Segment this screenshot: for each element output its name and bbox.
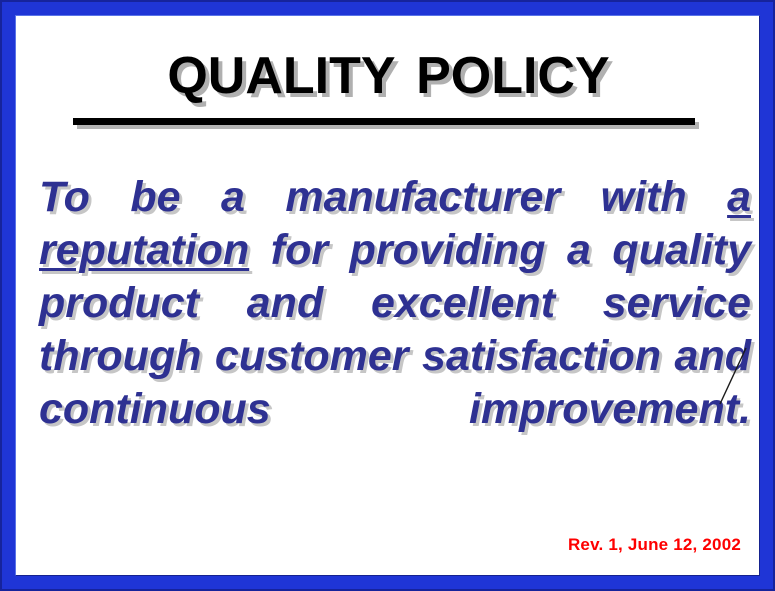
- policy-statement: To be a manufacturer with a reputation f…: [39, 171, 751, 491]
- page-title-text: Quality Policy: [167, 32, 609, 103]
- title-underline-bar: [73, 118, 695, 125]
- policy-underlined-article: a: [727, 173, 751, 221]
- policy-lead-text: To be a manufacturer with: [39, 173, 727, 221]
- quality-policy-slide: Quality Policy To be a manufacturer with…: [0, 0, 775, 591]
- policy-statement-text: To be a manufacturer with a reputation f…: [39, 171, 751, 489]
- policy-underlined-reputation: reputation: [39, 226, 249, 274]
- slide-canvas: Quality Policy To be a manufacturer with…: [15, 15, 760, 576]
- page-title: Quality Policy: [16, 32, 760, 103]
- revision-note: Rev. 1, June 12, 2002: [568, 535, 741, 555]
